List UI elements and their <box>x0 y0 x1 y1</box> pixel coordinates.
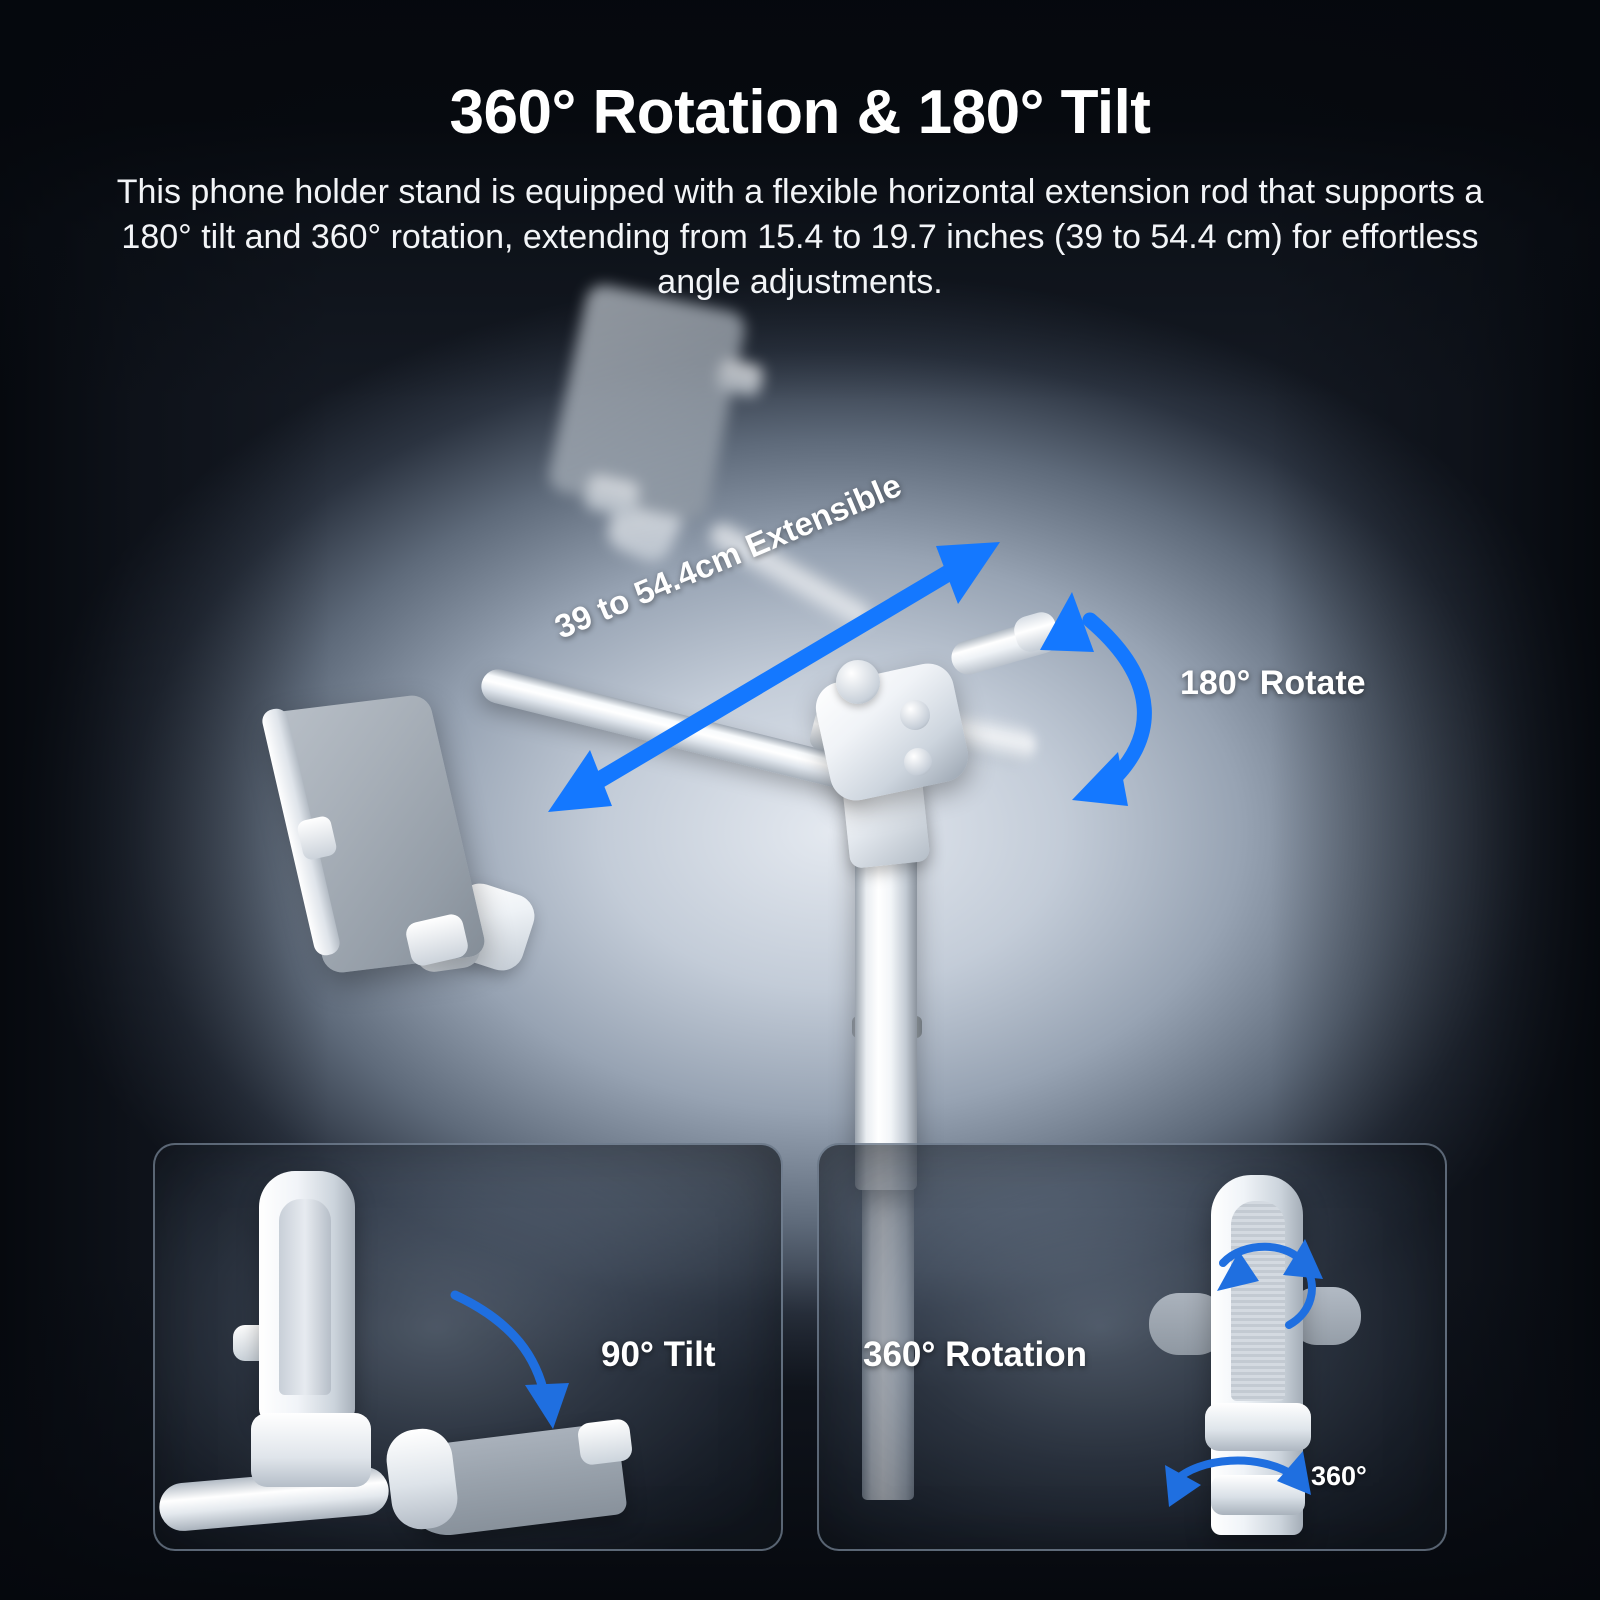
rotation-arrow-bottom-icon <box>1165 1451 1311 1507</box>
promo-image: 360° Rotation & 180° Tilt This phone hol… <box>0 0 1600 1600</box>
card-label-90-tilt: 90° Tilt <box>601 1335 716 1375</box>
card-90-tilt: 90° Tilt <box>153 1143 783 1551</box>
joint-screw-icon <box>900 700 930 730</box>
feature-cards: 90° Tilt 360° Rota <box>0 1143 1600 1563</box>
rotation-arrow-top-icon <box>1217 1239 1323 1325</box>
header: 360° Rotation & 180° Tilt This phone hol… <box>0 0 1600 306</box>
card-360-rotation: 360° Rotation 360° <box>817 1143 1447 1551</box>
card2-360-annotation: 360° <box>1311 1461 1367 1492</box>
page-description: This phone holder stand is equipped with… <box>115 144 1485 306</box>
curved-arrow-down-icon <box>455 1295 569 1429</box>
page-title: 360° Rotation & 180° Tilt <box>0 0 1600 144</box>
card-label-360-rotation: 360° Rotation <box>863 1335 1087 1375</box>
joint-screw-secondary-icon <box>904 748 932 776</box>
rotate-label: 180° Rotate <box>1180 664 1366 703</box>
joint-knob-icon <box>836 660 880 704</box>
